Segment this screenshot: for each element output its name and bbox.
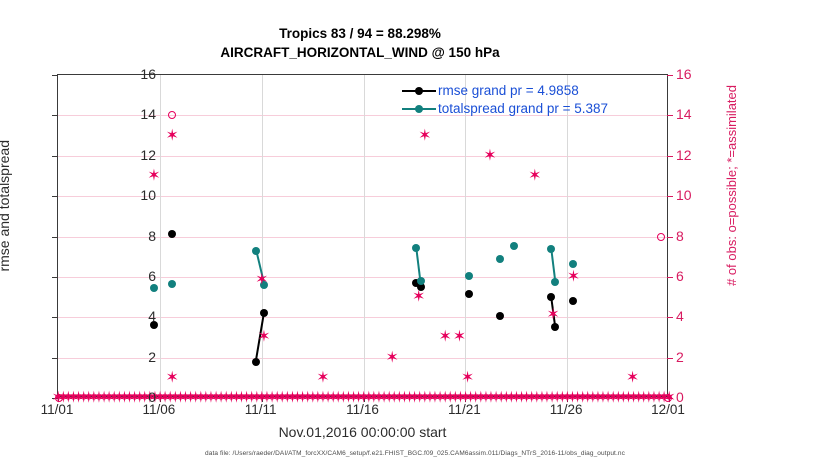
totalspread-point	[252, 247, 260, 255]
x-axis-title: Nov.01,2016 00:00:00 start	[57, 424, 668, 440]
totalspread-point	[150, 284, 158, 292]
y2-axis-tick-label: 4	[676, 308, 716, 324]
obs-assimilated-marker: ✶	[166, 129, 179, 142]
y2-axis-tick-label: 12	[676, 147, 716, 163]
rmse-point	[547, 293, 555, 301]
y2-axis-tick	[667, 196, 673, 197]
y-axis-tick	[52, 196, 58, 197]
rmse-point	[496, 312, 504, 320]
y-axis-tick	[52, 317, 58, 318]
obs-assimilated-marker: ✶	[147, 169, 160, 182]
x-axis-tick-label: 11/21	[448, 402, 481, 417]
y2-axis-tick-label: 8	[676, 228, 716, 244]
y-axis-tick-label: 14	[116, 106, 156, 122]
totalspread-point	[551, 278, 559, 286]
x-axis-tick-label: 11/11	[245, 402, 277, 417]
rmse-point	[569, 297, 577, 305]
x-axis-tick-label: 12/01	[651, 402, 685, 417]
gridline-vertical	[160, 75, 161, 396]
legend-entry-1[interactable]: rmse grand pr = 4.9858	[402, 82, 608, 100]
gridline-vertical	[262, 75, 263, 396]
gridline-vertical	[465, 75, 466, 396]
y-axis-tick	[52, 115, 58, 116]
y-axis-tick-label: 6	[116, 268, 156, 284]
obs-assimilated-marker: ✶	[412, 291, 425, 304]
y2-axis-tick	[667, 156, 673, 157]
y-axis-tick-label: 2	[116, 349, 156, 365]
y2-axis-tick	[667, 237, 673, 238]
y2-axis-tick-label: 16	[676, 66, 716, 82]
y-axis-tick-label: 16	[116, 66, 156, 82]
legend-label: rmse grand pr = 4.9858	[438, 82, 579, 100]
x-axis-tick-label: 11/06	[142, 402, 175, 417]
y2-axis-tick-label: 6	[676, 268, 716, 284]
legend-entry-2[interactable]: totalspread grand pr = 5.387	[402, 100, 608, 118]
obs-possible-marker	[55, 394, 63, 402]
y-axis-tick-label: 4	[116, 308, 156, 324]
obs-assimilated-marker: ✶	[567, 270, 580, 283]
y-axis-tick	[52, 75, 58, 76]
y2-axis-title: # of obs: o=possible; *=assimilated	[724, 85, 739, 286]
data-file-footer: data file: /Users/raeder/DAI/ATM_forcXX/…	[0, 450, 830, 457]
title-line-2: AIRCRAFT_HORIZONTAL_WIND @ 150 hPa	[0, 43, 720, 62]
y2-axis-tick	[667, 75, 673, 76]
obs-assimilated-marker: ✶	[166, 371, 179, 384]
y2-axis-tick	[667, 317, 673, 318]
y-axis-tick	[52, 358, 58, 359]
totalspread-point	[465, 272, 473, 280]
totalspread-point	[547, 245, 555, 253]
legend-label: totalspread grand pr = 5.387	[438, 100, 608, 118]
legend-swatch-icon	[402, 102, 436, 116]
totalspread-point	[412, 244, 420, 252]
y2-axis-tick	[667, 115, 673, 116]
title-line-1: Tropics 83 / 94 = 88.298%	[0, 24, 720, 43]
y2-axis-tick	[667, 277, 673, 278]
rmse-point	[252, 358, 260, 366]
y-axis-tick	[52, 156, 58, 157]
obs-assimilated-marker: ✶	[386, 351, 399, 364]
obs-assimilated-marker: ✶	[255, 273, 268, 286]
legend-swatch-icon	[402, 84, 436, 98]
y-axis-tick-label: 10	[116, 187, 156, 203]
obs-assimilated-marker: ✶	[418, 129, 431, 142]
totalspread-point	[510, 242, 518, 250]
y-axis-tick-label: 8	[116, 228, 156, 244]
totalspread-point	[168, 280, 176, 288]
x-axis-tick-label: 11/16	[346, 402, 379, 417]
obs-assimilated-marker: ✶	[453, 331, 466, 344]
y2-axis-tick-label: 10	[676, 187, 716, 203]
y2-axis-tick	[667, 358, 673, 359]
obs-assimilated-marker: ✶	[257, 331, 270, 344]
obs-assimilated-marker: ✶	[483, 149, 496, 162]
y-axis-tick-label: 12	[116, 147, 156, 163]
chart-figure: Tropics 83 / 94 = 88.298% AIRCRAFT_HORIZ…	[0, 0, 830, 470]
y2-axis-tick-label: 2	[676, 349, 716, 365]
gridline-vertical	[364, 75, 365, 396]
gridline-vertical	[567, 75, 568, 396]
y-axis-title: rmse and totalspread	[0, 140, 12, 272]
rmse-point	[168, 230, 176, 238]
chart-title: Tropics 83 / 94 = 88.298% AIRCRAFT_HORIZ…	[0, 24, 720, 62]
obs-possible-marker	[664, 394, 672, 402]
obs-possible-marker	[168, 111, 176, 119]
y2-axis-tick-label: 14	[676, 106, 716, 122]
obs-assimilated-marker: ✶	[461, 371, 474, 384]
rmse-point	[260, 309, 268, 317]
x-axis-tick-label: 11/01	[41, 402, 74, 417]
totalspread-point	[417, 277, 425, 285]
totalspread-point	[496, 255, 504, 263]
obs-assimilated-marker: ✶	[546, 309, 559, 322]
obs-assimilated-marker: ✶	[438, 331, 451, 344]
rmse-point	[551, 323, 559, 331]
obs-assimilated-marker: ✶	[316, 371, 329, 384]
obs-possible-marker	[657, 233, 665, 241]
rmse-point	[465, 290, 473, 298]
y-axis-tick	[52, 237, 58, 238]
chart-legend: rmse grand pr = 4.9858totalspread grand …	[398, 80, 612, 120]
obs-assimilated-marker: ✶	[528, 169, 541, 182]
y-axis-tick	[52, 277, 58, 278]
obs-assimilated-marker: ✶	[626, 371, 639, 384]
x-axis-tick-label: 11/26	[550, 402, 583, 417]
